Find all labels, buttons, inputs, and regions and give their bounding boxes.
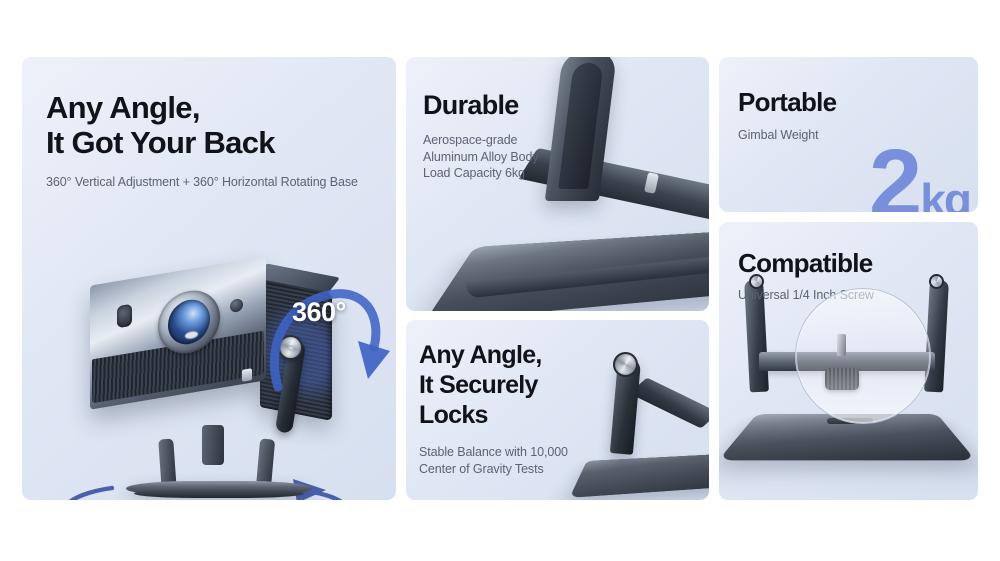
durable-sub-line2: Aluminum Alloy Body (423, 149, 539, 166)
stand-neck (202, 425, 224, 465)
any-angle-headline-line2: It Got Your Back (46, 125, 358, 160)
compatible-headline: Compatible (738, 249, 874, 279)
weight-unit: kg (920, 180, 970, 212)
panel-compatible: Compatible Universal 1/4 Inch Screw (719, 222, 978, 500)
locks-headline: Any Angle, It Securely Locks (419, 340, 568, 430)
projector-logo-badge (242, 368, 252, 382)
durable-subtitle: Aerospace-grade Aluminum Alloy Body Load… (423, 132, 539, 182)
locks-sub-line2: Center of Gravity Tests (419, 461, 568, 478)
locks-subtitle: Stable Balance with 10,000 Center of Gra… (419, 444, 568, 478)
locks-sub-line1: Stable Balance with 10,000 (419, 444, 568, 461)
durable-text-block: Durable Aerospace-grade Aluminum Alloy B… (423, 90, 539, 182)
any-angle-subtitle: 360° Vertical Adjustment + 360° Horizont… (46, 174, 358, 191)
locks-headline-line3: Locks (419, 400, 568, 430)
lock-tension-knob (613, 352, 638, 377)
panel-durable: Durable Aerospace-grade Aluminum Alloy B… (406, 57, 709, 311)
durable-headline: Durable (423, 90, 539, 121)
any-angle-text-block: Any Angle, It Got Your Back 360° Vertica… (46, 90, 358, 190)
badge-360-vertical: 360° (292, 297, 346, 328)
lens-glint (185, 331, 198, 340)
portable-text-block: Portable Gimbal Weight (738, 88, 836, 143)
stand-base-shadow (134, 489, 304, 498)
portable-headline: Portable (738, 88, 836, 118)
durable-sub-line1: Aerospace-grade (423, 132, 539, 149)
gimbal-knob-right (929, 274, 944, 289)
lock-support-bar (629, 378, 709, 429)
panel-securely-locks: Any Angle, It Securely Locks Stable Bala… (406, 320, 709, 500)
locks-text-block: Any Angle, It Securely Locks Stable Bala… (419, 340, 568, 478)
locks-headline-line1: Any Angle, (419, 340, 568, 370)
projector-lens-glass (168, 297, 210, 348)
panel-portable: Portable Gimbal Weight 2 kg (719, 57, 978, 212)
projector-sensor-left (117, 304, 132, 328)
gimbal-weight-value: 2 kg (869, 142, 970, 212)
durable-sub-line3: Load Capacity 6kg (423, 165, 539, 182)
any-angle-headline: Any Angle, It Got Your Back (46, 90, 358, 161)
locks-headline-line2: It Securely (419, 370, 568, 400)
lock-base-plate (569, 454, 709, 498)
any-angle-headline-line1: Any Angle, (46, 90, 358, 125)
panel-any-angle: 360° (22, 57, 396, 500)
projector-device: 360° (82, 253, 342, 483)
product-feature-board: 360° (0, 0, 1000, 561)
magnifier-highlight-circle (795, 288, 931, 424)
weight-number: 2 (869, 142, 919, 212)
portable-subtitle: Gimbal Weight (738, 127, 836, 144)
